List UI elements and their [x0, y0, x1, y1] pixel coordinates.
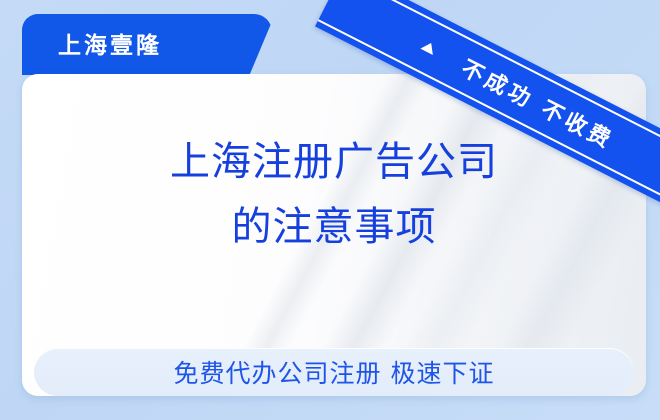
cta-banner[interactable]: 免费代办公司注册 极速下证 [34, 348, 634, 396]
content-card: 上海注册广告公司 的注意事项 免费代办公司注册 极速下证 [22, 74, 646, 396]
page-title: 上海注册广告公司 的注意事项 [22, 130, 646, 260]
poster-canvas: 上海壹隆 上海注册广告公司 的注意事项 免费代办公司注册 极速下证 不成功 不收… [0, 0, 660, 420]
page-title-line-2: 的注意事项 [22, 195, 646, 260]
cta-banner-text: 免费代办公司注册 极速下证 [174, 354, 495, 390]
content-card-surface: 上海注册广告公司 的注意事项 免费代办公司注册 极速下证 [22, 74, 646, 396]
brand-tab-label: 上海壹隆 [58, 26, 162, 60]
triangle-up-icon [420, 40, 437, 55]
page-title-line-1: 上海注册广告公司 [22, 130, 646, 195]
